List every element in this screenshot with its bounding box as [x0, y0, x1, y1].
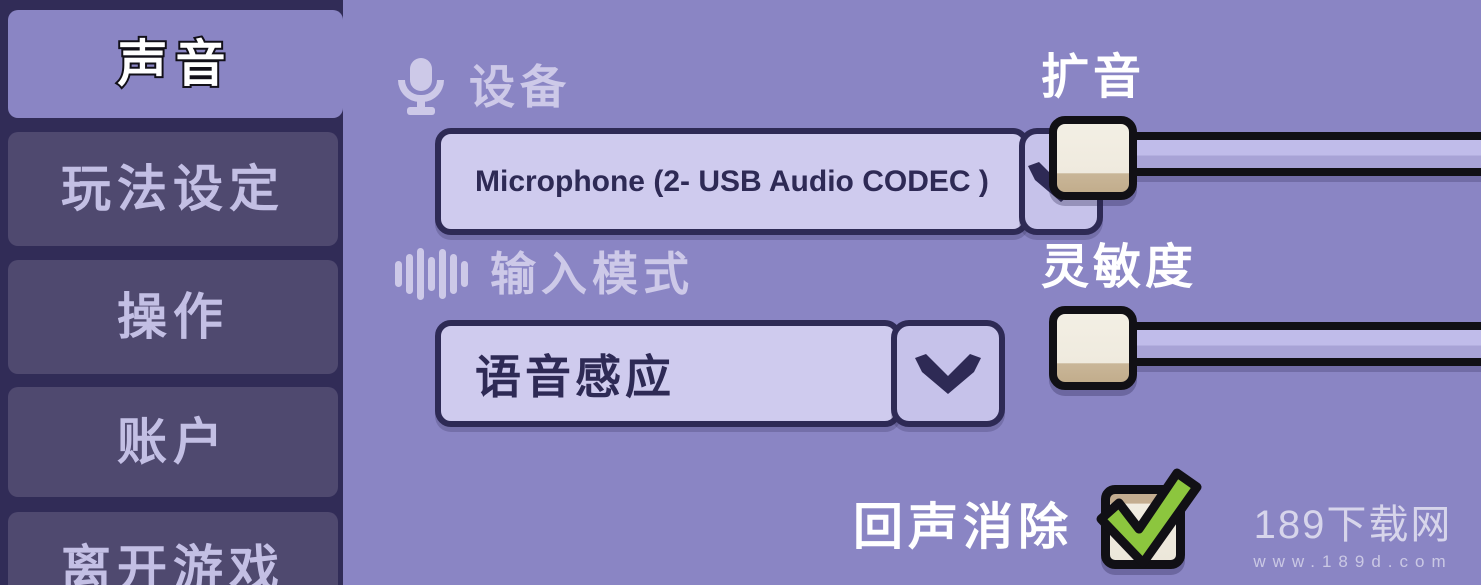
- sound-settings-panel: 设备 Microphone (2- USB Audio CODEC ) 输入模式: [343, 0, 1481, 585]
- settings-screen: 声音玩法设定操作账户离开游戏 设备 Microphone (2- USB Aud…: [0, 0, 1481, 585]
- sidebar-item-label: 声音: [118, 39, 234, 89]
- slider-track-sensitivity[interactable]: [1089, 322, 1481, 366]
- device-row-header: 设备: [395, 58, 571, 116]
- sidebar-item-label: 操作: [117, 292, 229, 342]
- watermark-title: 189下载网: [1243, 505, 1463, 545]
- device-dropdown[interactable]: Microphone (2- USB Audio CODEC ): [435, 128, 1005, 235]
- echo-cancel-row[interactable]: 回声消除: [853, 485, 1185, 569]
- slider-knob-amplification[interactable]: [1049, 116, 1137, 200]
- watermark-url: www.189d.com: [1243, 553, 1463, 570]
- input-mode-label: 输入模式: [490, 251, 694, 297]
- slider-sensitivity[interactable]: [1041, 306, 1481, 380]
- sidebar-item-label: 玩法设定: [61, 164, 285, 214]
- device-dropdown-value: Microphone (2- USB Audio CODEC ): [475, 165, 989, 199]
- slider-amplification[interactable]: [1041, 116, 1481, 190]
- sidebar-nav: 声音玩法设定操作账户离开游戏: [0, 0, 343, 585]
- sidebar-item-label: 离开游戏: [61, 544, 285, 585]
- sidebar-item-quit[interactable]: 离开游戏: [8, 512, 338, 585]
- echo-cancel-label: 回声消除: [853, 502, 1073, 552]
- input-mode-dropdown-value: 语音感应: [475, 341, 675, 407]
- sidebar-item-gameplay[interactable]: 玩法设定: [8, 132, 338, 246]
- sidebar-item-label: 账户: [117, 417, 229, 467]
- site-watermark: 189下载网 www.189d.com: [1243, 505, 1463, 570]
- slider-group-amplification: 扩音0: [1041, 50, 1481, 190]
- input-mode-dropdown-field[interactable]: 语音感应: [435, 320, 901, 427]
- input-mode-dropdown-arrow-button[interactable]: [891, 320, 1005, 427]
- slider-group-sensitivity: 灵敏度5: [1041, 240, 1481, 380]
- chevron-down-icon: [912, 352, 984, 396]
- sidebar-item-controls[interactable]: 操作: [8, 260, 338, 374]
- echo-cancel-checkbox[interactable]: [1101, 485, 1185, 569]
- device-label: 设备: [469, 64, 571, 110]
- input-mode-dropdown[interactable]: 语音感应: [435, 320, 1005, 427]
- device-dropdown-field[interactable]: Microphone (2- USB Audio CODEC ): [435, 128, 1029, 235]
- slider-label-sensitivity: 灵敏度: [1041, 244, 1197, 292]
- slider-label-amplification: 扩音: [1041, 54, 1145, 102]
- slider-knob-sensitivity[interactable]: [1049, 306, 1137, 390]
- microphone-icon: [395, 58, 447, 116]
- slider-track-amplification[interactable]: [1089, 132, 1481, 176]
- checkmark-icon: [1089, 463, 1205, 575]
- input-mode-row-header: 输入模式: [395, 248, 694, 300]
- sidebar-item-sound[interactable]: 声音: [8, 10, 343, 118]
- sidebar-item-account[interactable]: 账户: [8, 387, 338, 497]
- waveform-icon: [395, 248, 468, 300]
